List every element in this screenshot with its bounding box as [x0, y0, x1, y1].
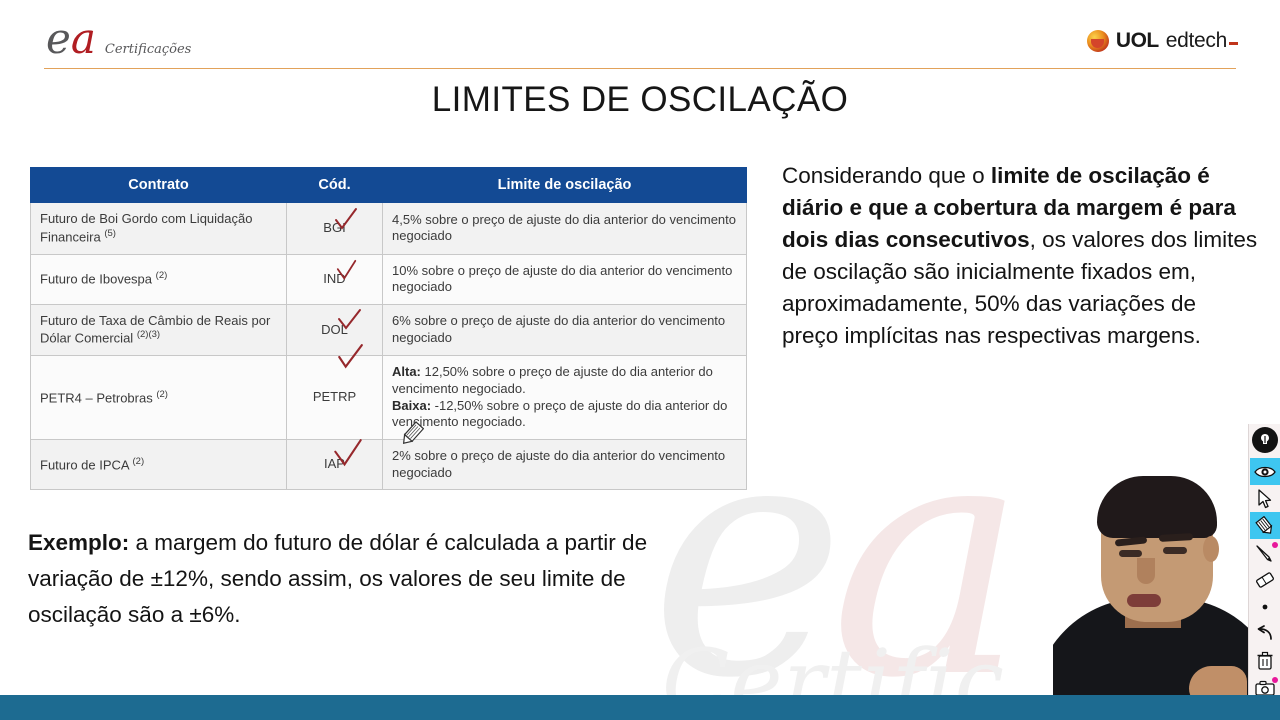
- cell-contract: PETR4 – Petrobras (2): [31, 356, 287, 440]
- cell-contract: Futuro de Ibovespa (2): [31, 254, 287, 304]
- cell-contract: Futuro de IPCA (2): [31, 439, 287, 489]
- marker-highlight-icon[interactable]: [1250, 512, 1280, 539]
- table-row: PETR4 – Petrobras (2) PETRP Alta: 12,50%…: [31, 356, 747, 440]
- cell-limit: 2% sobre o preço de ajuste do dia anteri…: [383, 439, 747, 489]
- ea-logo-subtitle: Certificações: [105, 42, 191, 57]
- column-header-contrato: Contrato: [31, 168, 287, 203]
- limit-alta-value: 12,50% sobre o preço de ajuste do dia an…: [392, 364, 713, 396]
- oscillation-limits-table: Contrato Cód. Limite de oscilação Futuro…: [30, 167, 746, 490]
- dot-pointer-icon[interactable]: [1250, 593, 1280, 620]
- presenter-video-overlay: [1053, 470, 1249, 695]
- presenter-eye-right: [1163, 547, 1187, 554]
- uol-edtech-logo: UOL edtech: [1087, 29, 1238, 53]
- cell-code: IND: [287, 254, 383, 304]
- pen-draw-icon[interactable]: [1250, 539, 1280, 566]
- app-logo-icon[interactable]: [1252, 427, 1278, 453]
- ea-logo-a: a: [71, 14, 96, 63]
- edtech-logo-text: edtech: [1166, 29, 1238, 53]
- undo-icon[interactable]: [1250, 620, 1280, 647]
- watermark-letter-a: a: [830, 430, 1027, 687]
- cell-limit: 4,5% sobre o preço de ajuste do dia ante…: [383, 203, 747, 255]
- cell-limit: 10% sobre o preço de ajuste do dia anter…: [383, 254, 747, 304]
- cell-limit: Alta: 12,50% sobre o preço de ajuste do …: [383, 356, 747, 440]
- trash-clear-icon[interactable]: [1250, 647, 1280, 674]
- eraser-icon[interactable]: [1250, 566, 1280, 593]
- presenter-nose: [1137, 558, 1155, 584]
- limit-alta-label: Alta:: [392, 364, 421, 379]
- bottom-accent-bar: [0, 695, 1280, 720]
- uol-globe-icon: [1087, 30, 1109, 52]
- ea-certificacoes-logo: ea Certificações: [46, 18, 191, 60]
- ea-logo-text: ea: [46, 18, 96, 60]
- edtech-underscore-icon: [1229, 42, 1238, 45]
- footnote-ref: (2): [156, 270, 168, 281]
- cell-contract: Futuro de Boi Gordo com Liquidação Finan…: [31, 203, 287, 255]
- table-row: Futuro de Taxa de Câmbio de Reais por Dó…: [31, 304, 747, 356]
- table-row: Futuro de Ibovespa (2) IND 10% sobre o p…: [31, 254, 747, 304]
- pen-color-badge: [1272, 542, 1278, 548]
- cell-limit: 6% sobre o preço de ajuste do dia anteri…: [383, 304, 747, 356]
- footnote-ref: (2): [156, 389, 168, 400]
- cell-code: BGI: [287, 203, 383, 255]
- table-row: Futuro de Boi Gordo com Liquidação Finan…: [31, 203, 747, 255]
- column-header-codigo: Cód.: [287, 168, 383, 203]
- cursor-select-icon[interactable]: [1250, 485, 1280, 512]
- footnote-ref: (5): [104, 228, 116, 239]
- table-row: Futuro de IPCA (2) IAP 2% sobre o preço …: [31, 439, 747, 489]
- cell-code: IAP: [287, 439, 383, 489]
- header-divider-line: [44, 68, 1236, 69]
- presenter-ear: [1203, 536, 1219, 562]
- explanation-paragraph: Considerando que o limite de oscilação é…: [782, 160, 1258, 352]
- example-label: Exemplo:: [28, 530, 129, 555]
- presenter-mouth: [1127, 594, 1161, 607]
- camera-badge: [1272, 677, 1278, 683]
- limit-baixa-label: Baixa:: [392, 398, 431, 413]
- example-paragraph: Exemplo: a margem do futuro de dólar é c…: [28, 525, 688, 633]
- uol-logo-text: UOL: [1116, 29, 1159, 53]
- ea-logo-e: e: [46, 14, 71, 63]
- limit-baixa-value: -12,50% sobre o preço de ajuste do dia a…: [392, 398, 727, 430]
- footnote-ref: (2): [133, 456, 145, 467]
- presenter-hand: [1189, 666, 1247, 695]
- slide-canvas: e a Certific ea Certificações UOL edtech…: [0, 0, 1280, 720]
- cell-code: DOL: [287, 304, 383, 356]
- cell-contract: Futuro de Taxa de Câmbio de Reais por Dó…: [31, 304, 287, 356]
- footnote-ref: (2)(3): [137, 329, 160, 340]
- table-header-row: Contrato Cód. Limite de oscilação: [31, 168, 747, 203]
- presenter-hair: [1097, 476, 1217, 538]
- presenter-eye-left: [1119, 550, 1142, 557]
- column-header-limite: Limite de oscilação: [383, 168, 747, 203]
- explanation-part1: Considerando que o: [782, 163, 991, 188]
- page-title: LIMITES DE OSCILAÇÃO: [0, 80, 1280, 120]
- eye-visibility-icon[interactable]: [1250, 458, 1280, 485]
- slide-header: ea Certificações UOL edtech: [0, 0, 1280, 72]
- annotation-toolbar[interactable]: [1248, 424, 1280, 704]
- cell-code: PETRP: [287, 356, 383, 440]
